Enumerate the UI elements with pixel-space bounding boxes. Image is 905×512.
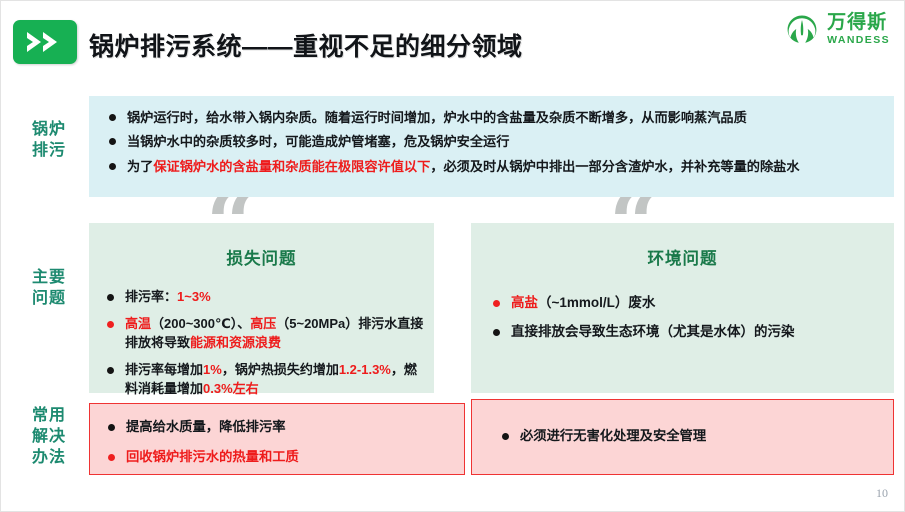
loss-problems-heading: 损失问题 xyxy=(89,245,434,269)
body-text: 为了 xyxy=(127,159,153,174)
list-item: 当锅炉水中的杂质较多时，可能造成炉管堵塞，危及锅炉安全运行 xyxy=(105,131,883,152)
list-item: 必须进行无害化处理及安全管理 xyxy=(498,426,888,446)
boiler-blowdown-bullet-list: 锅炉运行时，给水带入锅内杂质。随着运行时间增加，炉水中的含盐量及杂质不断增多，从… xyxy=(105,107,883,180)
body-text: 当锅炉水中的杂质较多时，可能造成炉管堵塞，危及锅炉安全运行 xyxy=(127,134,509,149)
list-item: 回收锅炉排污水的热量和工质 xyxy=(104,447,456,467)
body-text: 直接排放会导致生态环境（尤其是水体）的污染 xyxy=(511,324,795,339)
solution-right-bullet-list: 必须进行无害化处理及安全管理 xyxy=(498,426,888,451)
solution-left-bullet-list: 提高给水质量，降低排污率回收锅炉排污水的热量和工质 xyxy=(104,417,456,477)
solution-left-panel: 提高给水质量，降低排污率回收锅炉排污水的热量和工质 xyxy=(89,403,465,475)
list-item: 直接排放会导致生态环境（尤其是水体）的污染 xyxy=(489,322,885,342)
boiler-blowdown-panel: 锅炉运行时，给水带入锅内杂质。随着运行时间增加，炉水中的含盐量及杂质不断增多，从… xyxy=(89,96,894,197)
body-text: ，必须及时从锅炉中排出一部分含渣炉水，并补充等量的除盐水 xyxy=(430,159,799,174)
highlighted-text: 高盐 xyxy=(511,295,538,310)
highlighted-text: 能源和资源浪费 xyxy=(190,335,281,350)
list-item: 为了保证锅炉水的含盐量和杂质能在极限容许值以下，必须及时从锅炉中排出一部分含渣炉… xyxy=(105,156,883,177)
loss-problems-bullet-list: 排污率：1~3%高温（200~300℃）、高压（5~20MPa）排污水直接排放将… xyxy=(103,287,425,406)
rail-label-boiler-blowdown: 锅炉排污 xyxy=(15,119,83,161)
highlighted-text: 高压 xyxy=(250,316,276,331)
highlighted-text: 0.3%左右 xyxy=(203,381,259,396)
wandess-leaf-logo-icon xyxy=(784,11,820,47)
highlighted-text: 高温 xyxy=(125,316,151,331)
list-item: 排污率：1~3% xyxy=(103,287,425,307)
solution-right-panel: 必须进行无害化处理及安全管理 xyxy=(471,399,894,475)
rail-label-main-problems: 主要问题 xyxy=(15,267,83,309)
list-item: 排污率每增加1%，锅炉热损失约增加1.2-1.3%，燃料消耗量增加0.3%左右 xyxy=(103,360,425,399)
slide-header: 锅炉排污系统——重视不足的细分领域 万得斯 WANDESS xyxy=(1,1,905,87)
body-text: 提高给水质量，降低排污率 xyxy=(126,419,286,434)
highlighted-text: 1.2-1.3% xyxy=(339,362,391,377)
loss-problems-panel: 损失问题 排污率：1~3%高温（200~300℃）、高压（5~20MPa）排污水… xyxy=(89,223,434,393)
logo-text-en: WANDESS xyxy=(827,35,890,46)
double-chevron-right-icon xyxy=(13,20,77,64)
slide: 锅炉排污系统——重视不足的细分领域 万得斯 WANDESS 锅炉排污 主要问题 … xyxy=(0,0,905,512)
highlighted-text: 1~3% xyxy=(177,289,211,304)
body-text: （~1mmol/L）废水 xyxy=(538,295,655,310)
body-text: ，锅炉热损失约增加 xyxy=(222,362,339,377)
brand-logo: 万得斯 WANDESS xyxy=(784,11,890,47)
list-item: 提高给水质量，降低排污率 xyxy=(104,417,456,437)
environment-problems-panel: 环境问题 高盐（~1mmol/L）废水直接排放会导致生态环境（尤其是水体）的污染 xyxy=(471,223,894,393)
highlighted-text: 保证锅炉水的含盐量和杂质能在极限容许值以下 xyxy=(153,159,430,174)
body-text: 排污率： xyxy=(125,289,177,304)
highlighted-text: 回收锅炉排污水的热量和工质 xyxy=(126,449,299,464)
highlighted-text: 1% xyxy=(203,362,222,377)
list-item: 锅炉运行时，给水带入锅内杂质。随着运行时间增加，炉水中的含盐量及杂质不断增多，从… xyxy=(105,107,883,128)
list-item: 高盐（~1mmol/L）废水 xyxy=(489,293,885,313)
body-text: 锅炉运行时，给水带入锅内杂质。随着运行时间增加，炉水中的含盐量及杂质不断增多，从… xyxy=(127,110,747,125)
rail-label-common-solutions: 常用解决办法 xyxy=(15,405,83,468)
environment-problems-heading: 环境问题 xyxy=(471,245,894,269)
page-title: 锅炉排污系统——重视不足的细分领域 xyxy=(89,27,523,63)
body-text: 排污率每增加 xyxy=(125,362,203,377)
list-item: 高温（200~300℃）、高压（5~20MPa）排污水直接排放将导致能源和资源浪… xyxy=(103,314,425,353)
page-number: 10 xyxy=(876,486,888,501)
environment-problems-bullet-list: 高盐（~1mmol/L）废水直接排放会导致生态环境（尤其是水体）的污染 xyxy=(489,293,885,352)
body-text: （200~300℃）、 xyxy=(151,316,250,331)
logo-text-cn: 万得斯 xyxy=(827,13,890,32)
body-text: 必须进行无害化处理及安全管理 xyxy=(520,428,706,443)
